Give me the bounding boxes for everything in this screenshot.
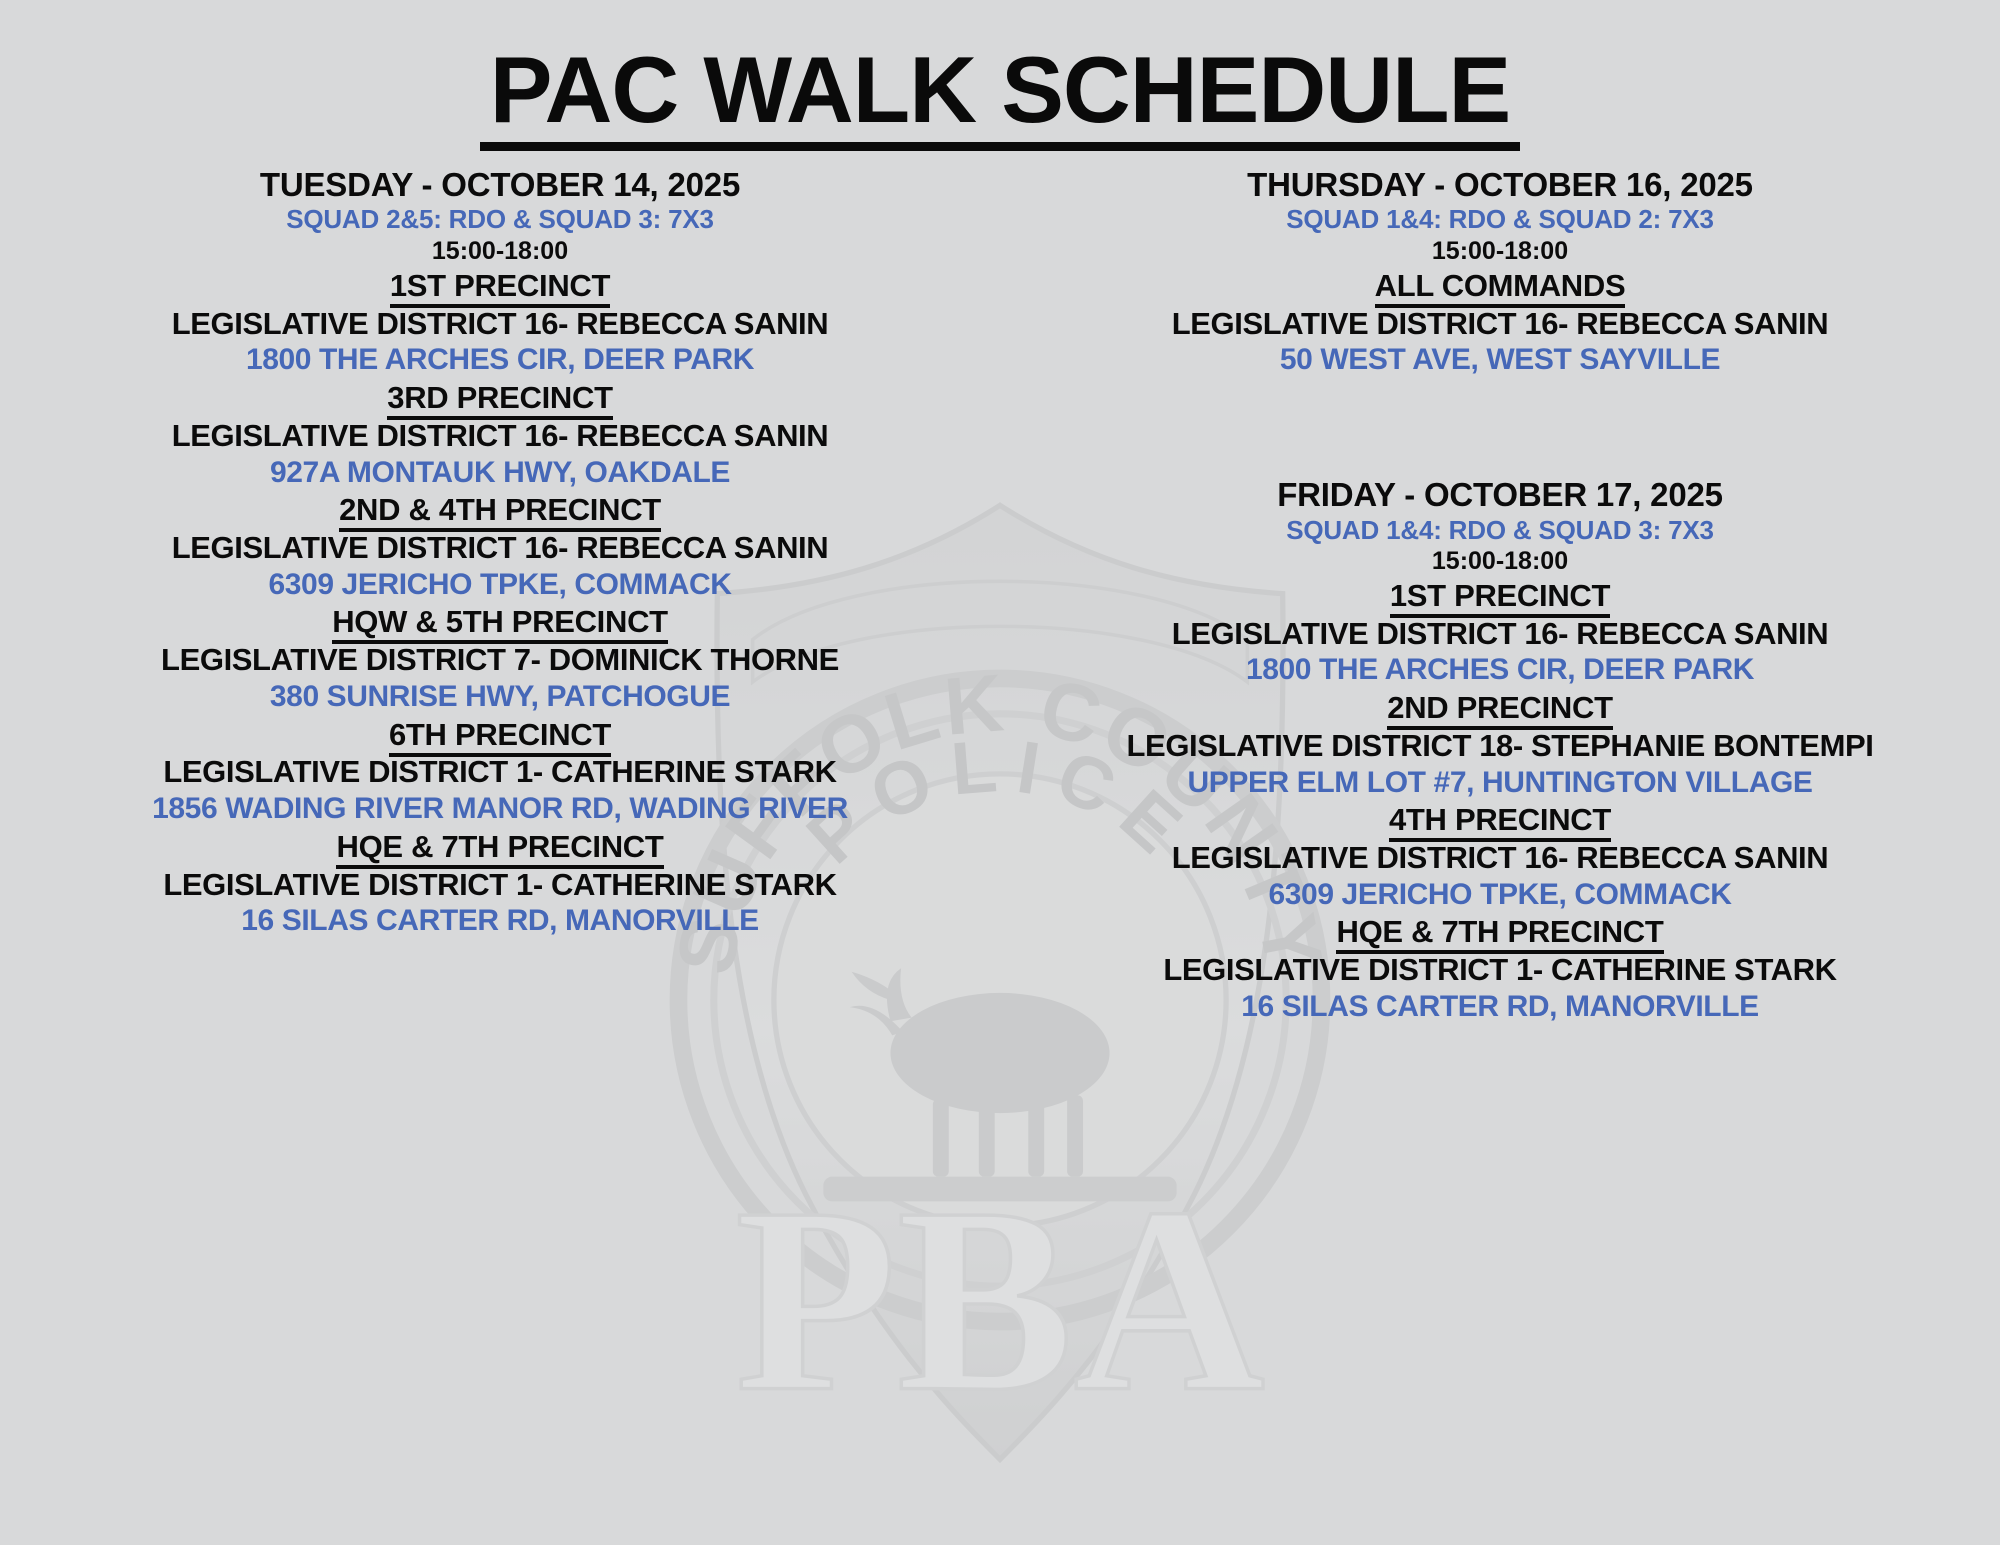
- district-label: LEGISLATIVE DISTRICT 16- REBECCA SANIN: [10, 529, 990, 567]
- district-label: LEGISLATIVE DISTRICT 1- CATHERINE STARK: [1010, 951, 1990, 989]
- district-label: LEGISLATIVE DISTRICT 16- REBECCA SANIN: [10, 417, 990, 455]
- address-label: 16 SILAS CARTER RD, MANORVILLE: [10, 903, 990, 940]
- address-label: UPPER ELM LOT #7, HUNTINGTON VILLAGE: [1010, 765, 1990, 802]
- schedule-entry: 6TH PRECINCT LEGISLATIVE DISTRICT 1- CAT…: [10, 716, 990, 828]
- schedule-column-left: TUESDAY - OCTOBER 14, 2025 SQUAD 2&5: RD…: [0, 165, 1000, 1026]
- district-label: LEGISLATIVE DISTRICT 16- REBECCA SANIN: [1010, 839, 1990, 877]
- precinct-label: HQW & 5TH PRECINCT: [10, 603, 990, 641]
- address-label: 6309 JERICHO TPKE, COMMACK: [1010, 877, 1990, 914]
- precinct-label: 3RD PRECINCT: [10, 379, 990, 417]
- schedule-entry: 1ST PRECINCT LEGISLATIVE DISTRICT 16- RE…: [1010, 577, 1990, 689]
- address-label: 6309 JERICHO TPKE, COMMACK: [10, 567, 990, 604]
- day-block-friday: FRIDAY - OCTOBER 17, 2025 SQUAD 1&4: RDO…: [1010, 475, 1990, 1026]
- time-line: 15:00-18:00: [10, 236, 990, 267]
- day-heading: TUESDAY - OCTOBER 14, 2025: [10, 165, 990, 205]
- squad-line: SQUAD 1&4: RDO & SQUAD 2: 7X3: [1010, 204, 1990, 236]
- district-label: LEGISLATIVE DISTRICT 16- REBECCA SANIN: [1010, 305, 1990, 343]
- precinct-label: ALL COMMANDS: [1010, 267, 1990, 305]
- schedule-entry: 2ND & 4TH PRECINCT LEGISLATIVE DISTRICT …: [10, 491, 990, 603]
- district-label: LEGISLATIVE DISTRICT 18- STEPHANIE BONTE…: [1010, 727, 1990, 765]
- address-label: 50 WEST AVE, WEST SAYVILLE: [1010, 342, 1990, 379]
- schedule-entry: 4TH PRECINCT LEGISLATIVE DISTRICT 16- RE…: [1010, 801, 1990, 913]
- precinct-label: HQE & 7TH PRECINCT: [10, 828, 990, 866]
- day-heading: FRIDAY - OCTOBER 17, 2025: [1010, 475, 1990, 515]
- address-label: 380 SUNRISE HWY, PATCHOGUE: [10, 679, 990, 716]
- schedule-columns: TUESDAY - OCTOBER 14, 2025 SQUAD 2&5: RD…: [0, 165, 2000, 1026]
- time-line: 15:00-18:00: [1010, 546, 1990, 577]
- schedule-entry: ALL COMMANDS LEGISLATIVE DISTRICT 16- RE…: [1010, 267, 1990, 379]
- address-label: 927A MONTAUK HWY, OAKDALE: [10, 455, 990, 492]
- district-label: LEGISLATIVE DISTRICT 16- REBECCA SANIN: [1010, 615, 1990, 653]
- schedule-column-right: THURSDAY - OCTOBER 16, 2025 SQUAD 1&4: R…: [1000, 165, 2000, 1026]
- schedule-entry: HQE & 7TH PRECINCT LEGISLATIVE DISTRICT …: [10, 828, 990, 940]
- day-block-thursday: THURSDAY - OCTOBER 16, 2025 SQUAD 1&4: R…: [1010, 165, 1990, 379]
- precinct-label: 6TH PRECINCT: [10, 716, 990, 754]
- page-title-wrap: PAC WALK SCHEDULE: [0, 0, 2000, 151]
- squad-line: SQUAD 1&4: RDO & SQUAD 3: 7X3: [1010, 515, 1990, 547]
- precinct-label: HQE & 7TH PRECINCT: [1010, 913, 1990, 951]
- column-spacer: [1010, 379, 1990, 475]
- precinct-label: 2ND & 4TH PRECINCT: [10, 491, 990, 529]
- schedule-entry: 3RD PRECINCT LEGISLATIVE DISTRICT 16- RE…: [10, 379, 990, 491]
- pac-walk-schedule-flyer: SUFFOLK COUNTY POLICE PBA P: [0, 0, 2000, 1545]
- page-title: PAC WALK SCHEDULE: [480, 42, 1521, 151]
- day-block-tuesday: TUESDAY - OCTOBER 14, 2025 SQUAD 2&5: RD…: [10, 165, 990, 940]
- precinct-label: 1ST PRECINCT: [10, 267, 990, 305]
- address-label: 1800 THE ARCHES CIR, DEER PARK: [1010, 652, 1990, 689]
- precinct-label: 1ST PRECINCT: [1010, 577, 1990, 615]
- squad-line: SQUAD 2&5: RDO & SQUAD 3: 7X3: [10, 204, 990, 236]
- day-heading: THURSDAY - OCTOBER 16, 2025: [1010, 165, 1990, 205]
- precinct-label: 2ND PRECINCT: [1010, 689, 1990, 727]
- address-label: 1800 THE ARCHES CIR, DEER PARK: [10, 342, 990, 379]
- district-label: LEGISLATIVE DISTRICT 16- REBECCA SANIN: [10, 305, 990, 343]
- schedule-entry: 2ND PRECINCT LEGISLATIVE DISTRICT 18- ST…: [1010, 689, 1990, 801]
- svg-text:PBA: PBA: [735, 1154, 1265, 1447]
- time-line: 15:00-18:00: [1010, 236, 1990, 267]
- precinct-label: 4TH PRECINCT: [1010, 801, 1990, 839]
- district-label: LEGISLATIVE DISTRICT 7- DOMINICK THORNE: [10, 641, 990, 679]
- schedule-entry: HQW & 5TH PRECINCT LEGISLATIVE DISTRICT …: [10, 603, 990, 715]
- schedule-entry: HQE & 7TH PRECINCT LEGISLATIVE DISTRICT …: [1010, 913, 1990, 1025]
- address-label: 16 SILAS CARTER RD, MANORVILLE: [1010, 989, 1990, 1026]
- schedule-entry: 1ST PRECINCT LEGISLATIVE DISTRICT 16- RE…: [10, 267, 990, 379]
- address-label: 1856 WADING RIVER MANOR RD, WADING RIVER: [10, 791, 990, 828]
- district-label: LEGISLATIVE DISTRICT 1- CATHERINE STARK: [10, 866, 990, 904]
- district-label: LEGISLATIVE DISTRICT 1- CATHERINE STARK: [10, 753, 990, 791]
